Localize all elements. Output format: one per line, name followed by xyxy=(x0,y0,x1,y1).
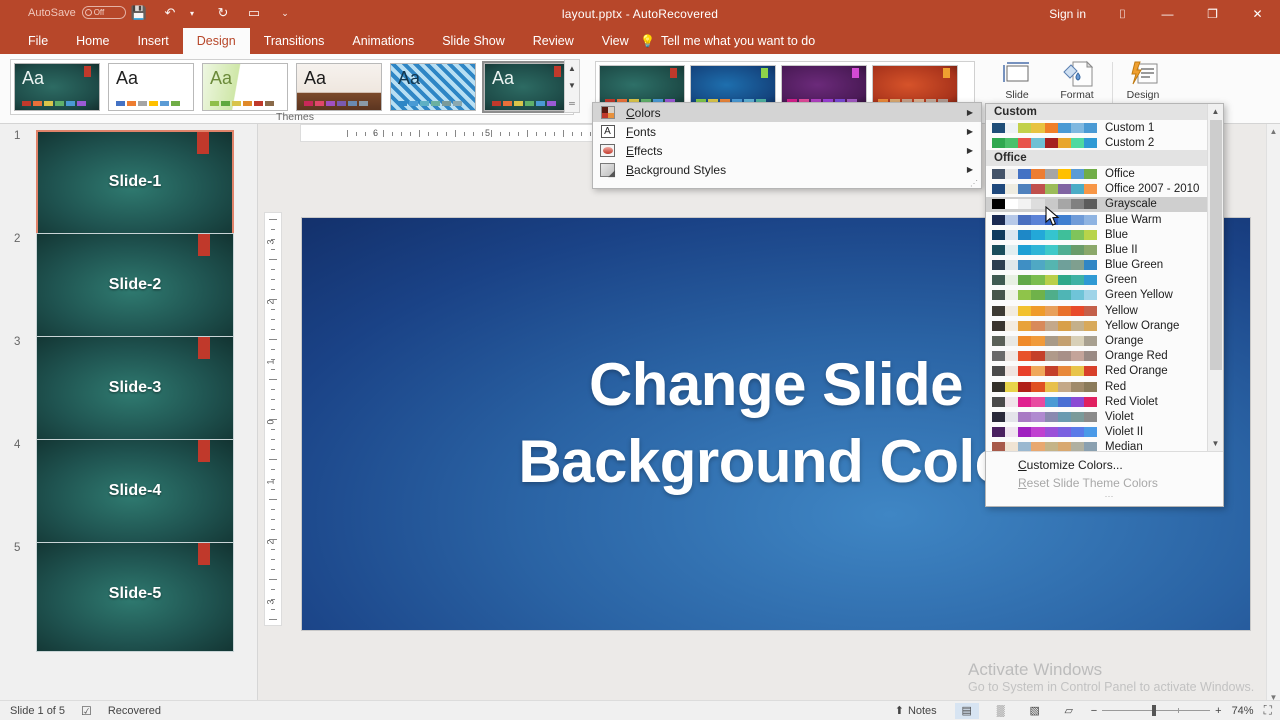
color-swatch xyxy=(1084,336,1097,346)
color-scheme-swatches xyxy=(992,397,1097,407)
color-scheme-swatches xyxy=(992,230,1097,240)
color-swatch xyxy=(1045,442,1058,451)
color-scheme-item-red-violet[interactable]: Red Violet xyxy=(986,394,1207,409)
color-swatch xyxy=(1045,321,1058,331)
color-scheme-label: Custom 1 xyxy=(1105,122,1154,134)
color-scheme-item-green[interactable]: Green xyxy=(986,273,1207,288)
color-scheme-swatches xyxy=(992,199,1097,209)
color-scheme-swatches xyxy=(992,138,1097,148)
h-ruler-minor-tick xyxy=(392,132,393,136)
theme-wood-type[interactable]: Aa xyxy=(296,63,382,111)
color-swatch xyxy=(1005,199,1018,209)
tab-view[interactable]: View xyxy=(588,28,643,54)
color-scheme-label: Red xyxy=(1105,381,1126,393)
color-swatch xyxy=(1031,321,1044,331)
color-scheme-item-orange-red[interactable]: Orange Red xyxy=(986,349,1207,364)
color-swatch xyxy=(1045,397,1058,407)
theme-preview-text: Aa xyxy=(22,68,44,89)
color-swatch xyxy=(1045,215,1058,225)
color-scheme-item-red-orange[interactable]: Red Orange xyxy=(986,364,1207,379)
redo-icon[interactable]: ↻ xyxy=(214,4,232,22)
v-ruler-minor-tick xyxy=(271,569,275,570)
tell-me-box[interactable]: 💡 Tell me what you want to do xyxy=(640,28,815,54)
variants-menu-item-colors[interactable]: Colors ▶ xyxy=(593,103,981,122)
color-swatch xyxy=(1071,138,1084,148)
h-ruler-minor-tick xyxy=(509,132,510,136)
variants-menu-item-background-styles[interactable]: Background Styles ▶ xyxy=(593,160,981,179)
slide-corner-accent xyxy=(198,234,210,256)
color-swatch xyxy=(1084,366,1097,376)
tab-home[interactable]: Home xyxy=(62,28,123,54)
color-swatch xyxy=(1031,138,1044,148)
v-ruler-minor-tick xyxy=(269,539,277,540)
color-swatch xyxy=(992,351,1005,361)
slide-thumbnail-title: Slide-5 xyxy=(109,585,161,603)
themes-gallery: Aa Aa Aa Aa xyxy=(10,59,574,115)
color-swatch xyxy=(992,442,1005,451)
slide-title-line-1[interactable]: Change Slide xyxy=(589,347,963,424)
zoom-in-button[interactable]: + xyxy=(1215,705,1221,717)
slide-thumbnail-1[interactable]: 1Slide-1 xyxy=(36,130,234,240)
v-ruler-minor-tick xyxy=(271,389,275,390)
autosave-switch[interactable]: Off xyxy=(82,6,126,19)
colors-scroll-down-icon[interactable]: ▼ xyxy=(1212,436,1220,451)
fit-slide-to-window-icon[interactable]: ⛶ xyxy=(1264,703,1272,718)
color-swatch xyxy=(1058,442,1071,451)
theme-preview-text: Aa xyxy=(116,68,138,89)
color-swatch xyxy=(1005,397,1018,407)
h-ruler-minor-tick xyxy=(536,132,537,136)
minimize-icon[interactable]: — xyxy=(1145,0,1190,28)
h-ruler-minor-tick xyxy=(374,132,375,136)
slide-thumbnail-5[interactable]: 5Slide-5 xyxy=(36,542,234,652)
theme-preview-text: Aa xyxy=(210,68,232,89)
color-swatch xyxy=(1058,215,1071,225)
color-scheme-item-green-yellow[interactable]: Green Yellow xyxy=(986,288,1207,303)
themes-gallery-scroll[interactable]: ▲ ▼ ═ xyxy=(564,59,580,113)
color-swatch xyxy=(1031,230,1044,240)
color-swatch xyxy=(992,184,1005,194)
tab-animations[interactable]: Animations xyxy=(338,28,428,54)
color-swatch xyxy=(1071,260,1084,270)
color-swatch xyxy=(1084,442,1097,451)
h-ruler-minor-tick xyxy=(383,130,384,137)
color-scheme-item-custom-1[interactable]: Custom 1 xyxy=(986,120,1207,135)
color-scheme-label: Blue Green xyxy=(1105,259,1163,271)
color-swatch xyxy=(1084,351,1097,361)
color-swatch xyxy=(1071,351,1084,361)
slide-thumbnail-preview[interactable]: Slide-5 xyxy=(36,542,234,652)
chevron-right-icon: ▶ xyxy=(967,165,973,174)
color-scheme-item-yellow-orange[interactable]: Yellow Orange xyxy=(986,318,1207,333)
color-swatch xyxy=(1084,306,1097,316)
autosave-toggle[interactable]: AutoSave Off xyxy=(28,6,126,19)
variants-dropdown-menu[interactable]: Colors ▶ A Fonts ▶ Effects ▶ Background … xyxy=(592,102,982,189)
tab-slide-show[interactable]: Slide Show xyxy=(428,28,519,54)
zoom-slider[interactable]: − + xyxy=(1091,705,1222,717)
h-ruler-minor-tick xyxy=(518,132,519,136)
v-ruler-tick: 3 xyxy=(266,599,276,604)
zoom-handle[interactable] xyxy=(1152,705,1156,716)
color-swatch xyxy=(1071,215,1084,225)
v-ruler-minor-tick xyxy=(271,449,275,450)
colors-icon xyxy=(599,105,616,121)
colors-submenu-scrollbar[interactable]: ▲ ▼ xyxy=(1207,104,1223,451)
color-swatch xyxy=(1058,397,1071,407)
color-swatch xyxy=(1005,215,1018,225)
theme-swatches xyxy=(116,101,180,106)
color-swatch xyxy=(992,260,1005,270)
h-ruler-minor-tick xyxy=(446,132,447,136)
variant-corner-mark xyxy=(943,68,950,78)
accessibility-checker-icon[interactable]: ☑ xyxy=(81,704,92,718)
slide-thumbnail-3[interactable]: 3Slide-3 xyxy=(36,336,234,446)
tab-file[interactable]: File xyxy=(14,28,62,54)
theme-office[interactable]: Aa xyxy=(108,63,194,111)
status-right: ⬆ Notes ▤ ▒ ▧ ▱ − + 74% ⛶ xyxy=(895,703,1280,719)
colors-submenu-footer: Customize Colors... Reset Slide Theme Co… xyxy=(986,451,1223,506)
theme-swatches xyxy=(22,101,86,106)
slide-corner-accent xyxy=(198,543,210,565)
color-swatch xyxy=(1058,306,1071,316)
slide-thumbnail-preview[interactable]: Slide-1 xyxy=(36,130,234,240)
color-swatch xyxy=(1084,169,1097,179)
theme-swatches xyxy=(492,101,556,106)
color-swatch xyxy=(992,321,1005,331)
color-swatch xyxy=(1084,290,1097,300)
color-scheme-item-blue-ii[interactable]: Blue II xyxy=(986,242,1207,257)
v-ruler-minor-tick xyxy=(269,379,277,380)
color-scheme-item-red[interactable]: Red xyxy=(986,379,1207,394)
slide-thumbnail-preview[interactable]: Slide-4 xyxy=(36,439,234,549)
color-swatch xyxy=(1045,184,1058,194)
zoom-track[interactable] xyxy=(1102,710,1210,711)
color-swatch xyxy=(1084,230,1097,240)
v-ruler-minor-tick xyxy=(271,239,275,240)
color-swatch xyxy=(1084,123,1097,133)
slide-thumbnails-panel[interactable]: 1Slide-12Slide-23Slide-34Slide-45Slide-5 xyxy=(0,124,258,704)
color-scheme-item-office-2007-2010[interactable]: Office 2007 - 2010 xyxy=(986,182,1207,197)
color-swatch xyxy=(1045,290,1058,300)
slide-thumbnail-title: Slide-3 xyxy=(109,379,161,397)
color-scheme-item-grayscale[interactable]: Grayscale xyxy=(986,197,1207,212)
color-scheme-item-office[interactable]: Office xyxy=(986,166,1207,181)
color-swatch xyxy=(1071,184,1084,194)
color-scheme-label: Red Orange xyxy=(1105,365,1168,377)
color-scheme-label: Blue Warm xyxy=(1105,214,1161,226)
slide-size-label-1: Slide xyxy=(1005,90,1028,101)
color-swatch xyxy=(992,427,1005,437)
color-scheme-item-yellow[interactable]: Yellow xyxy=(986,303,1207,318)
color-swatch xyxy=(1084,427,1097,437)
color-scheme-swatches xyxy=(992,412,1097,422)
fonts-icon: A xyxy=(599,124,616,140)
color-scheme-label: Office 2007 - 2010 xyxy=(1105,183,1199,195)
color-swatch xyxy=(1071,382,1084,392)
color-swatch xyxy=(992,123,1005,133)
color-swatch xyxy=(1058,336,1071,346)
color-swatch xyxy=(1031,442,1044,451)
v-ruler-tick: 0 xyxy=(266,419,276,424)
h-ruler-minor-tick xyxy=(500,132,501,136)
color-scheme-swatches xyxy=(992,321,1097,331)
v-ruler-minor-tick xyxy=(269,459,277,460)
v-ruler-minor-tick xyxy=(271,489,275,490)
color-swatch xyxy=(1018,427,1031,437)
slideshow-view-button[interactable]: ▱ xyxy=(1057,703,1081,719)
undo-dropdown-icon[interactable]: ▾ xyxy=(183,4,201,22)
slide-thumbnail-title: Slide-4 xyxy=(109,482,161,500)
variants-menu-item-effects[interactable]: Effects ▶ xyxy=(593,141,981,160)
color-swatch xyxy=(1031,427,1044,437)
slide-thumbnail-preview[interactable]: Slide-2 xyxy=(36,233,234,343)
theme-swatches xyxy=(398,101,462,106)
color-swatch xyxy=(1058,169,1071,179)
color-swatch xyxy=(1058,427,1071,437)
color-swatch xyxy=(1084,199,1097,209)
customize-qat-icon[interactable]: ⌄ xyxy=(276,4,294,22)
slide-thumbnail-title: Slide-2 xyxy=(109,276,161,294)
color-swatch xyxy=(1058,260,1071,270)
slide-title-line-2[interactable]: Background Color xyxy=(518,424,1033,501)
zoom-level-label[interactable]: 74% xyxy=(1232,705,1254,717)
h-ruler-minor-tick xyxy=(590,132,591,136)
color-scheme-swatches xyxy=(992,275,1097,285)
color-swatch xyxy=(1031,306,1044,316)
h-ruler-minor-tick xyxy=(581,132,582,136)
undo-icon[interactable]: ↶ xyxy=(161,4,179,22)
color-swatch xyxy=(1031,215,1044,225)
color-scheme-label: Blue II xyxy=(1105,244,1138,256)
color-swatch xyxy=(1058,412,1071,422)
color-swatch xyxy=(1045,427,1058,437)
color-scheme-label: Violet xyxy=(1105,411,1134,423)
color-swatch xyxy=(1018,245,1031,255)
color-swatch xyxy=(1071,442,1084,451)
color-swatch xyxy=(1058,382,1071,392)
color-scheme-item-violet-ii[interactable]: Violet II xyxy=(986,425,1207,440)
v-ruler-minor-tick xyxy=(271,369,275,370)
theme-preview-text: Aa xyxy=(304,68,326,89)
color-swatch xyxy=(1084,382,1097,392)
color-swatch xyxy=(1084,412,1097,422)
variants-menu-label-fonts: Fonts xyxy=(626,125,656,139)
color-scheme-item-orange[interactable]: Orange xyxy=(986,333,1207,348)
color-swatch xyxy=(1005,184,1018,194)
tab-transitions[interactable]: Transitions xyxy=(250,28,339,54)
color-swatch xyxy=(1045,382,1058,392)
color-swatch xyxy=(1031,123,1044,133)
tab-insert[interactable]: Insert xyxy=(124,28,183,54)
color-scheme-item-blue-warm[interactable]: Blue Warm xyxy=(986,212,1207,227)
color-swatch xyxy=(1071,275,1084,285)
color-scheme-label: Median xyxy=(1105,441,1143,451)
color-swatch xyxy=(992,169,1005,179)
v-ruler-minor-tick xyxy=(269,499,277,500)
h-ruler-minor-tick xyxy=(545,132,546,136)
scroll-up-icon[interactable]: ▲ xyxy=(1270,124,1278,138)
slide-sorter-view-button[interactable]: ▒ xyxy=(989,703,1013,719)
v-ruler-tick: 2 xyxy=(266,299,276,304)
color-scheme-swatches xyxy=(992,382,1097,392)
color-swatch xyxy=(1018,321,1031,331)
variant-corner-mark xyxy=(670,68,677,78)
color-scheme-swatches xyxy=(992,245,1097,255)
theme-green-wedge[interactable]: Aa xyxy=(202,63,288,111)
v-ruler-minor-tick xyxy=(269,219,277,220)
theme-retrospect-teal[interactable]: Aa xyxy=(14,63,100,111)
ribbon-display-options-icon[interactable]: ⌷ xyxy=(1100,0,1145,28)
v-ruler-minor-tick xyxy=(271,329,275,330)
gallery-scroll-down-icon[interactable]: ▼ xyxy=(568,77,576,94)
color-swatch xyxy=(992,138,1005,148)
color-scheme-label: Green Yellow xyxy=(1105,289,1173,301)
sign-in-button[interactable]: Sign in xyxy=(1035,7,1100,21)
color-swatch xyxy=(1018,412,1031,422)
v-ruler-minor-tick xyxy=(271,399,275,400)
color-swatch xyxy=(1005,169,1018,179)
color-swatch xyxy=(1058,138,1071,148)
colors-menu-resize-grip[interactable] xyxy=(986,492,1223,500)
menu-resize-grip[interactable] xyxy=(593,179,981,188)
color-scheme-item-blue-green[interactable]: Blue Green xyxy=(986,258,1207,273)
v-ruler-minor-tick xyxy=(269,259,277,260)
color-swatch xyxy=(1045,351,1058,361)
h-ruler-minor-tick xyxy=(554,132,555,136)
save-icon[interactable]: 💾 xyxy=(130,4,148,22)
h-ruler-minor-tick xyxy=(410,132,411,136)
tab-design[interactable]: Design xyxy=(183,28,250,54)
color-swatch xyxy=(1005,366,1018,376)
color-swatch xyxy=(992,230,1005,240)
h-ruler-minor-tick xyxy=(491,130,492,137)
color-swatch xyxy=(1018,260,1031,270)
close-icon[interactable]: ✕ xyxy=(1235,0,1280,28)
color-swatch xyxy=(1005,442,1018,451)
gallery-scroll-up-icon[interactable]: ▲ xyxy=(568,60,576,77)
color-swatch xyxy=(1018,442,1031,451)
color-swatch xyxy=(1071,290,1084,300)
restore-icon[interactable]: ❐ xyxy=(1190,0,1235,28)
colors-scroll-up-icon[interactable]: ▲ xyxy=(1212,104,1220,119)
theme-pattern-blue[interactable]: Aa xyxy=(390,63,476,111)
v-ruler-minor-tick xyxy=(271,359,275,360)
color-scheme-item-median[interactable]: Median xyxy=(986,440,1207,451)
color-scheme-label: Blue xyxy=(1105,229,1128,241)
watermark-title: Activate Windows xyxy=(968,660,1258,680)
color-swatch xyxy=(992,275,1005,285)
editor-vertical-scrollbar[interactable]: ▲ ▼ xyxy=(1266,124,1280,704)
color-swatch xyxy=(1031,260,1044,270)
color-scheme-swatches xyxy=(992,260,1097,270)
gallery-more-icon[interactable]: ═ xyxy=(569,95,575,112)
color-scheme-label: Orange Red xyxy=(1105,350,1168,362)
tab-review[interactable]: Review xyxy=(519,28,588,54)
h-ruler-minor-tick xyxy=(473,132,474,136)
color-scheme-label: Custom 2 xyxy=(1105,137,1154,149)
v-ruler-tick: 1 xyxy=(266,479,276,484)
slide-thumbnail-4[interactable]: 4Slide-4 xyxy=(36,439,234,549)
color-swatch xyxy=(1045,245,1058,255)
color-swatch xyxy=(1071,397,1084,407)
h-ruler-minor-tick xyxy=(428,132,429,136)
variant-corner-mark xyxy=(761,68,768,78)
color-swatch xyxy=(992,199,1005,209)
color-swatch xyxy=(1084,138,1097,148)
color-swatch xyxy=(1045,306,1058,316)
title-bar: layout.pptx - AutoRecovered AutoSave Off… xyxy=(0,0,1280,28)
color-swatch xyxy=(1058,184,1071,194)
color-scheme-label: Violet II xyxy=(1105,426,1143,438)
lightbulb-icon: 💡 xyxy=(640,34,655,48)
color-swatch xyxy=(1018,290,1031,300)
slide-corner-accent xyxy=(198,337,210,359)
design-ideas-icon xyxy=(1127,56,1159,88)
v-ruler-minor-tick xyxy=(271,549,275,550)
color-swatch xyxy=(1005,260,1018,270)
color-swatch xyxy=(1005,123,1018,133)
colors-section-header: Custom xyxy=(986,104,1207,120)
color-swatch xyxy=(1084,184,1097,194)
color-swatch xyxy=(1031,412,1044,422)
slide-thumbnail-2[interactable]: 2Slide-2 xyxy=(36,233,234,343)
customize-colors-item[interactable]: Customize Colors... xyxy=(986,456,1223,474)
normal-view-button[interactable]: ▤ xyxy=(955,703,979,719)
color-scheme-label: Office xyxy=(1105,168,1135,180)
colors-scroll-thumb[interactable] xyxy=(1210,120,1222,370)
themes-group-label: Themes xyxy=(6,111,584,123)
recovered-label: Recovered xyxy=(108,705,161,717)
color-swatch xyxy=(1031,336,1044,346)
v-ruler-minor-tick xyxy=(271,229,275,230)
color-scheme-label: Orange xyxy=(1105,335,1143,347)
v-ruler-minor-tick xyxy=(271,529,275,530)
variants-menu-item-fonts[interactable]: A Fonts ▶ xyxy=(593,122,981,141)
color-scheme-swatches xyxy=(992,366,1097,376)
color-swatch xyxy=(1031,351,1044,361)
color-scheme-item-blue[interactable]: Blue xyxy=(986,227,1207,242)
reading-view-button[interactable]: ▧ xyxy=(1023,703,1047,719)
v-ruler-minor-tick xyxy=(271,349,275,350)
h-ruler-minor-tick xyxy=(347,130,348,137)
notes-button[interactable]: ⬆ Notes xyxy=(895,704,937,717)
h-ruler-minor-tick xyxy=(401,132,402,136)
color-swatch xyxy=(1031,366,1044,376)
powerpoint-window: layout.pptx - AutoRecovered AutoSave Off… xyxy=(0,0,1280,720)
slide-thumbnail-preview[interactable]: Slide-3 xyxy=(36,336,234,446)
color-swatch xyxy=(992,290,1005,300)
start-presentation-icon[interactable]: ▭ xyxy=(245,4,263,22)
colors-submenu[interactable]: CustomCustom 1Custom 2OfficeOfficeOffice… xyxy=(985,103,1224,507)
theme-teal-selected[interactable]: Aa xyxy=(484,63,570,111)
themes-group: Aa Aa Aa Aa xyxy=(6,54,584,124)
zoom-out-button[interactable]: − xyxy=(1091,705,1097,717)
color-swatch xyxy=(1018,275,1031,285)
color-swatch xyxy=(1084,321,1097,331)
v-ruler-minor-tick xyxy=(271,289,275,290)
v-ruler-minor-tick xyxy=(269,299,277,300)
colors-list[interactable]: CustomCustom 1Custom 2OfficeOfficeOffice… xyxy=(986,104,1207,451)
color-scheme-item-violet[interactable]: Violet xyxy=(986,409,1207,424)
v-ruler-minor-tick xyxy=(271,599,275,600)
color-swatch xyxy=(992,382,1005,392)
v-ruler-minor-tick xyxy=(271,439,275,440)
h-ruler-minor-tick xyxy=(563,130,564,137)
color-scheme-item-custom-2[interactable]: Custom 2 xyxy=(986,135,1207,150)
h-ruler-minor-tick xyxy=(419,130,420,137)
color-swatch xyxy=(1045,366,1058,376)
slide-number: 5 xyxy=(14,542,20,554)
